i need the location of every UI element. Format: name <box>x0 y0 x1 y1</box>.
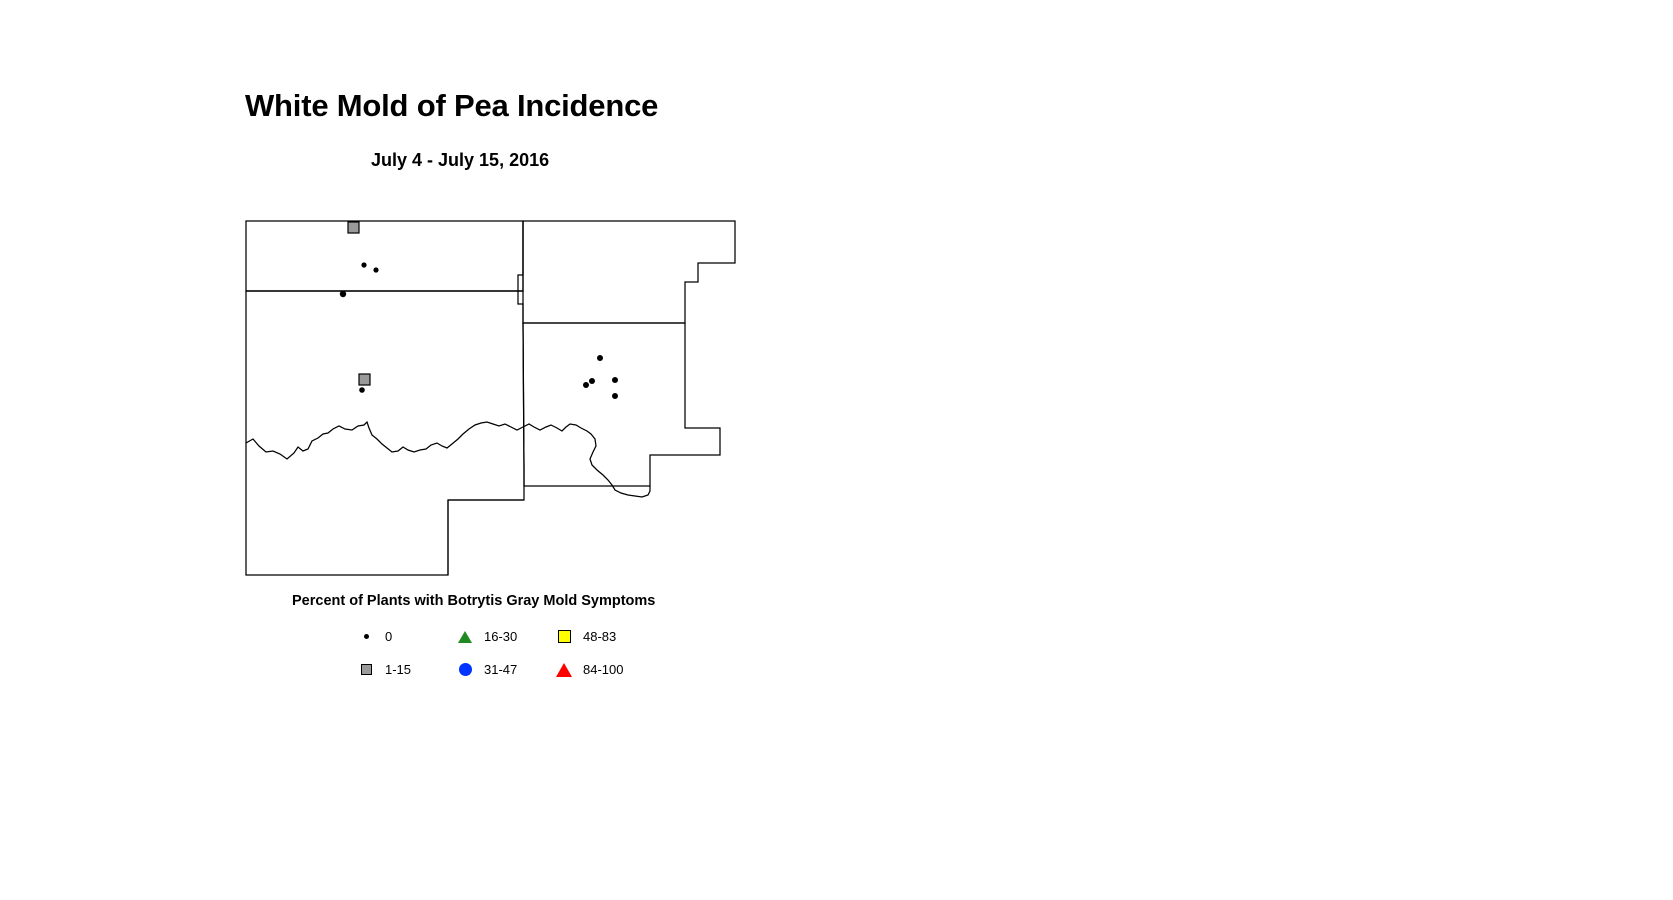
date-range-subtitle: July 4 - July 15, 2016 <box>371 150 549 171</box>
page-title: White Mold of Pea Incidence <box>245 88 658 124</box>
map-marker-dot-0[interactable] <box>340 291 346 297</box>
legend-item-0[interactable]: 0 <box>355 620 392 653</box>
map-marker-dot-0[interactable] <box>597 355 603 361</box>
map-marker-dot-0[interactable] <box>612 377 618 383</box>
legend-item-1-15[interactable]: 1-15 <box>355 653 411 686</box>
legend-swatch-square-yellow-icon <box>553 626 575 648</box>
legend-item-31-47[interactable]: 31-47 <box>454 653 517 686</box>
legend-row: 1-15 31-47 84-100 <box>355 653 685 686</box>
map-marker-square-1-15[interactable] <box>348 222 359 233</box>
map-data-points[interactable] <box>340 222 618 399</box>
map-marker-dot-0[interactable] <box>359 387 365 393</box>
boundary-southwest-county <box>246 291 524 575</box>
legend-swatch-triangle-red-icon <box>553 659 575 681</box>
boundary-northwest-county <box>246 221 523 291</box>
legend-item-16-30[interactable]: 16-30 <box>454 620 517 653</box>
region-map[interactable] <box>240 203 740 588</box>
legend-swatch-dot-icon <box>355 626 377 648</box>
map-marker-dot-0[interactable] <box>373 267 378 272</box>
legend-swatch-triangle-green-icon <box>454 626 476 648</box>
legend-item-48-83[interactable]: 48-83 <box>553 620 616 653</box>
boundary-south-notch <box>448 500 524 575</box>
legend-swatch-square-gray-icon <box>355 659 377 681</box>
boundary-northeast-county <box>518 221 735 323</box>
map-marker-dot-0[interactable] <box>361 262 366 267</box>
legend-label: 48-83 <box>583 629 616 644</box>
legend-label: 0 <box>385 629 392 644</box>
legend-row: 0 16-30 48-83 <box>355 620 685 653</box>
boundary-southeast-county <box>523 323 720 486</box>
map-marker-square-1-15[interactable] <box>359 374 370 385</box>
legend-swatch-circle-blue-icon <box>454 659 476 681</box>
county-boundaries <box>246 221 735 575</box>
legend-label: 31-47 <box>484 662 517 677</box>
map-figure-page: White Mold of Pea Incidence July 4 - Jul… <box>0 0 1673 900</box>
boundary-interior-vertical <box>518 221 523 291</box>
legend-label: 84-100 <box>583 662 623 677</box>
legend-label: 1-15 <box>385 662 411 677</box>
legend-title: Percent of Plants with Botrytis Gray Mol… <box>292 593 655 609</box>
map-marker-dot-0[interactable] <box>583 382 589 388</box>
map-plot-area[interactable] <box>240 203 740 588</box>
map-marker-dot-0[interactable] <box>612 393 618 399</box>
legend-label: 16-30 <box>484 629 517 644</box>
legend-item-84-100[interactable]: 84-100 <box>553 653 623 686</box>
legend: 0 16-30 48-83 1-15 <box>355 620 685 686</box>
map-marker-dot-0[interactable] <box>589 378 595 384</box>
